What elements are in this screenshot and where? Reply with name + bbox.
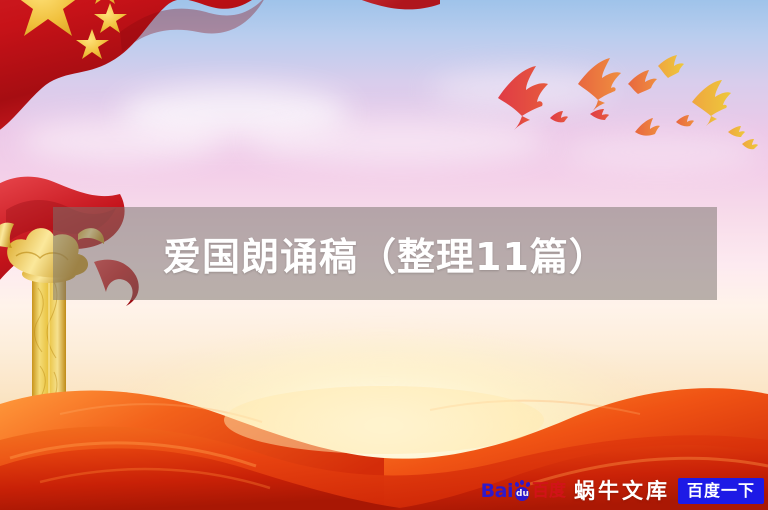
dove-icon <box>728 126 745 137</box>
dove-icon <box>498 66 548 116</box>
dove-icon <box>742 139 758 149</box>
baidu-search-button[interactable]: 百度一下 <box>678 478 764 505</box>
title-overlay-bar: 爱国朗诵稿（整理11篇） <box>53 207 717 300</box>
branding-watermark: Bai du 百度 蜗牛文库 百度一下 <box>481 476 764 506</box>
dove-icon <box>658 55 684 78</box>
baidu-chinese-text: 百度 <box>532 483 566 500</box>
page-title: 爱国朗诵稿（整理11篇） <box>163 226 608 281</box>
dove-icon <box>628 70 657 94</box>
paw-print-icon: du <box>514 481 531 501</box>
dove-icon <box>692 80 731 116</box>
baidu-logo[interactable]: Bai du 百度 <box>481 480 566 502</box>
dove-icon <box>550 111 568 122</box>
baidu-latin-text: Bai <box>481 482 513 501</box>
dove-icon <box>676 115 694 126</box>
document-thumbnail: 爱国朗诵稿（整理11篇） Bai du 百度 蜗牛文库 百度一下 <box>0 0 768 510</box>
site-name: 蜗牛文库 <box>574 481 670 502</box>
dove-icon <box>635 118 660 136</box>
dove-icon <box>578 58 621 100</box>
prc-flag <box>0 0 440 150</box>
dove-icon <box>590 109 609 120</box>
baidu-du-badge: du <box>515 487 529 501</box>
flying-doves <box>480 40 768 160</box>
